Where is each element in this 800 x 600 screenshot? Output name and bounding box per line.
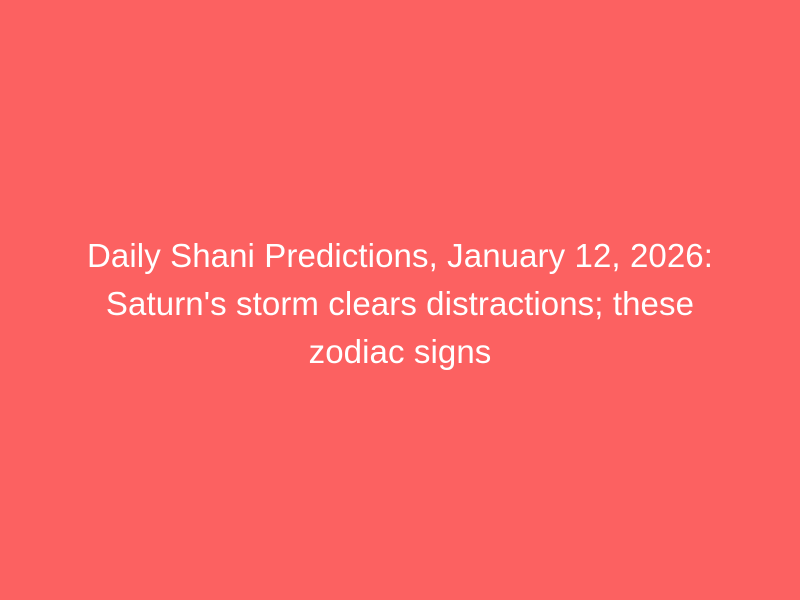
headline-line-1: Daily Shani Predictions, January 12, 202… bbox=[80, 232, 720, 280]
page-title: Daily Shani Predictions, January 12, 202… bbox=[0, 232, 800, 376]
headline-line-2: Saturn's storm clears distractions; thes… bbox=[80, 280, 720, 328]
headline-card: Daily Shani Predictions, January 12, 202… bbox=[0, 0, 800, 600]
headline-line-3: zodiac signs bbox=[80, 328, 720, 376]
